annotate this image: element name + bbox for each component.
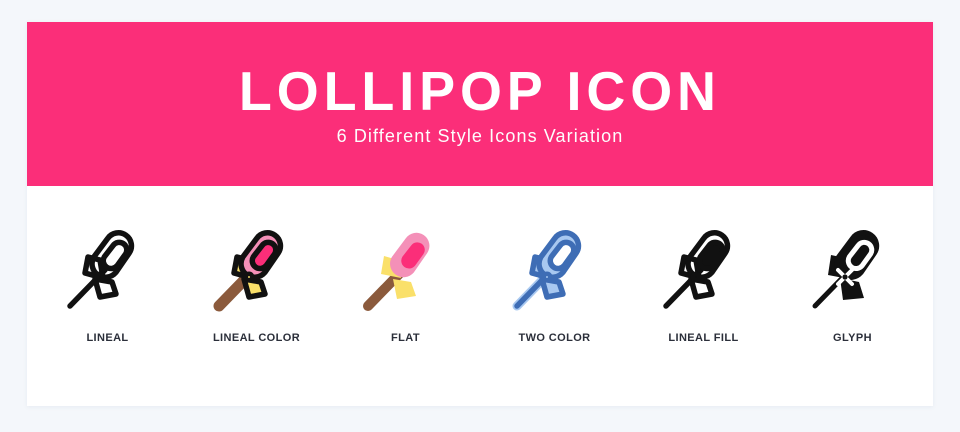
header-band: LOLLIPOP ICON 6 Different Style Icons Va… xyxy=(27,22,933,186)
icon-cell-flat[interactable]: FLAT xyxy=(334,186,477,344)
lollipop-icon-lineal[interactable] xyxy=(53,212,163,322)
icon-label: LINEAL xyxy=(86,332,128,344)
page-title: LOLLIPOP ICON xyxy=(239,64,721,119)
icon-grid: LINEAL LINEAL COLOR xyxy=(27,186,933,406)
lollipop-icon-two-color[interactable] xyxy=(500,212,610,322)
lollipop-icon-lineal-color[interactable] xyxy=(202,212,312,322)
icon-label: TWO COLOR xyxy=(518,332,590,344)
icon-cell-lineal-fill[interactable]: LINEAL FILL xyxy=(632,186,775,344)
icon-sheet: LOLLIPOP ICON 6 Different Style Icons Va… xyxy=(27,22,933,406)
lollipop-icon-lineal-fill[interactable] xyxy=(649,212,759,322)
page-subtitle: 6 Different Style Icons Variation xyxy=(337,127,624,145)
lollipop-icon-flat[interactable] xyxy=(351,212,461,322)
icon-label: LINEAL FILL xyxy=(668,332,738,344)
icon-label: FLAT xyxy=(391,332,420,344)
icon-label: GLYPH xyxy=(833,332,872,344)
icon-cell-glyph[interactable]: GLYPH xyxy=(781,186,924,344)
icon-label: LINEAL COLOR xyxy=(213,332,300,344)
icon-cell-two-color[interactable]: TWO COLOR xyxy=(483,186,626,344)
lollipop-icon-glyph[interactable] xyxy=(798,212,908,322)
icon-cell-lineal[interactable]: LINEAL xyxy=(36,186,179,344)
icon-cell-lineal-color[interactable]: LINEAL COLOR xyxy=(185,186,328,344)
